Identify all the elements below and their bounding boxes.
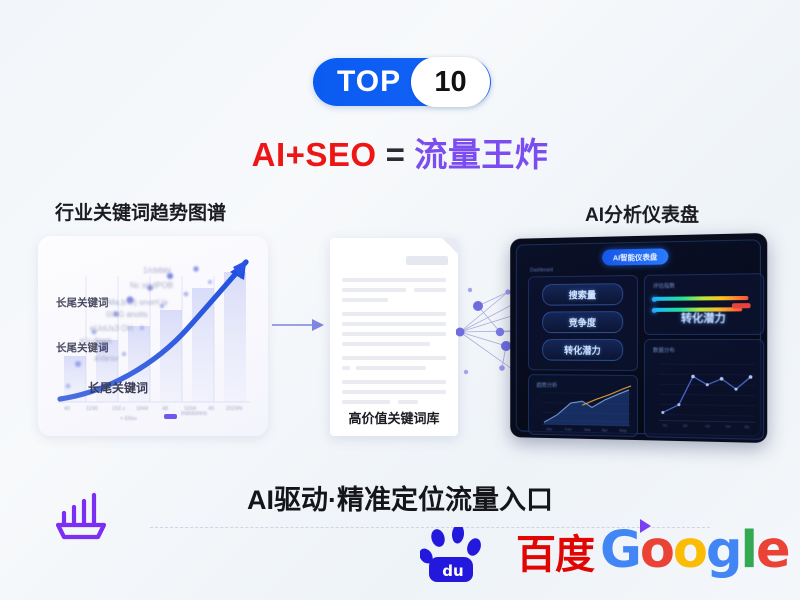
gauge-panel-label: 评估指数 (653, 281, 675, 289)
x-tick-7: 49 (208, 406, 214, 412)
headline-left: AI+SEO (252, 136, 377, 173)
svg-text:du: du (442, 562, 463, 580)
google-letter-o1: o (640, 521, 673, 580)
line-tick-4: 04 (726, 424, 731, 429)
decor-word-3: Ma,b.O) snorrl la (108, 298, 168, 307)
area-tick-2: Feb (565, 427, 572, 432)
bottom-tagline: AI驱动·精准定位流量入口 (0, 478, 800, 517)
slide-canvas: TOP 10 AI+SEO=流量王炸 行业关键词趋势图谱 AI分析仪表盘 (0, 0, 800, 600)
x-tick-2: 1190 (86, 406, 98, 412)
google-letter-g2: g (706, 521, 741, 580)
decor-word-2: Nc sisdPOB (130, 281, 173, 290)
area-tick-4: Apr (602, 427, 608, 432)
doc-card-caption: 高价值关键词库 (330, 408, 458, 427)
metric-pill-competition[interactable]: 竞争度 (542, 311, 623, 333)
badge-top-label: TOP (337, 67, 401, 97)
google-letter-o2: o (673, 521, 706, 580)
legend-swatch (164, 414, 177, 419)
decor-word-1: 1/cbtbbi (143, 266, 171, 275)
line-tick-5: 05 (744, 424, 749, 429)
gauge-alert-chip (732, 303, 751, 308)
page-title: AI+SEO=流量王炸 (0, 128, 800, 176)
decor-word-5: eUoUs3 OH (90, 324, 133, 333)
badge-number: 10 (434, 68, 466, 97)
x-tick-1: 40 (64, 406, 70, 412)
decor-word-6: e'u-dgws (80, 336, 112, 345)
flow-arrow-icon (272, 316, 326, 334)
x-tick-5: 48 (162, 406, 168, 412)
top-10-badge: TOP 10 (313, 58, 491, 106)
line-tick-2: 02 (683, 423, 687, 428)
headline-operator: = (386, 136, 406, 173)
gauge-panel: 评估指数 转化潜力 (644, 273, 764, 335)
keyword-document-card: 高价值关键词库 (330, 238, 458, 436)
x-tick-4: 1844 (136, 406, 148, 412)
search-engine-logos: du 百度 Google (420, 521, 750, 583)
decor-word-7: aVarsv (94, 354, 118, 363)
left-section-caption: 行业关键词趋势图谱 (55, 198, 226, 225)
baidu-wordmark: 百度 (516, 535, 594, 575)
area-tick-1: Jan (546, 426, 552, 431)
x-tick-8: 2024N (226, 406, 242, 412)
metric-pill-search-volume[interactable]: 搜索量 (542, 283, 623, 306)
legend-label: Indstonns (181, 411, 207, 417)
keyword-label-1: 长尾关键词 (56, 295, 109, 310)
area-tick-5: May (619, 428, 626, 433)
badge-number-circle: 10 (411, 57, 490, 107)
google-letter-e: e (756, 521, 789, 580)
metrics-panel: 搜索量 竞争度 转化潜力 (528, 275, 638, 371)
axis-note: + Ellsu (120, 416, 137, 422)
decor-word-4: 0/AG anoits (106, 310, 148, 319)
line-tick-1: 01 (663, 423, 667, 428)
baidu-paw-icon: du (420, 527, 510, 583)
gauge-overlay-label: 转化潜力 (645, 309, 763, 326)
x-tick-3: 192.c (112, 406, 125, 412)
headline-right: 流量王炸 (414, 136, 548, 173)
trend-chart-card: 长尾关键词 长尾关键词 长尾关键词 1/cbtbbi Nc sisdPOB Ma… (38, 236, 268, 436)
keyword-label-3: 长尾关键词 (88, 379, 148, 396)
line-tick-3: 03 (705, 423, 710, 428)
area-tick-3: Mar (584, 427, 591, 432)
google-letter-g1: G (600, 521, 640, 580)
google-letter-l: l (740, 521, 755, 580)
right-section-caption: AI分析仪表盘 (585, 200, 699, 227)
gauge-bar-1 (655, 296, 749, 301)
line-chart-panel: 数据分布 (644, 339, 764, 440)
doc-header-block (406, 256, 448, 265)
google-wordmark: Google (600, 525, 789, 576)
metric-pill-conversion[interactable]: 转化潜力 (542, 339, 623, 361)
area-chart-panel: 趋势分析 Jan Feb Mar Apr (528, 374, 638, 437)
dashboard-screen: AI智能仪表盘 Dashboard 搜索量 竞争度 转化潜力 评估指数 转化潜力 (516, 239, 761, 436)
page-fold-corner (442, 238, 458, 254)
ai-dashboard: AI智能仪表盘 Dashboard 搜索量 竞争度 转化潜力 评估指数 转化潜力 (510, 233, 767, 443)
dashboard-title-badge: AI智能仪表盘 (602, 248, 668, 265)
bar-chart-icon (48, 487, 114, 549)
dashboard-frame: AI智能仪表盘 Dashboard 搜索量 竞争度 转化潜力 评估指数 转化潜力 (510, 233, 767, 443)
dashboard-subtitle: Dashboard (530, 267, 553, 273)
